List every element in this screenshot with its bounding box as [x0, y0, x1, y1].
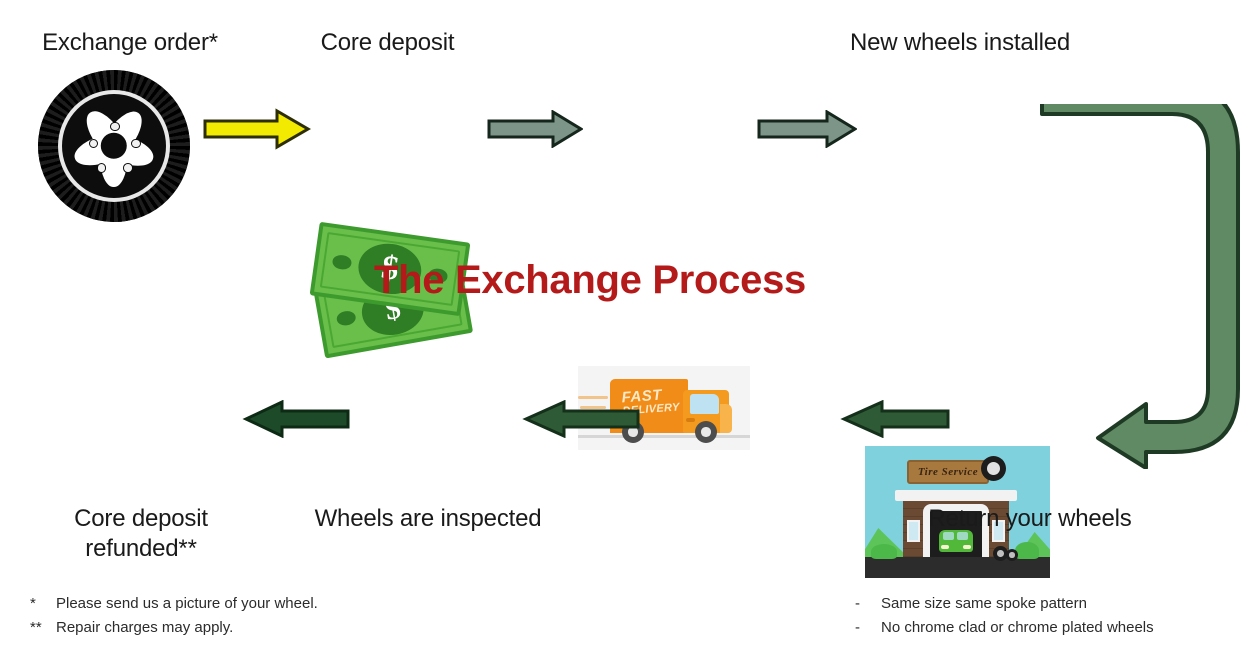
rim-spokes — [63, 95, 165, 197]
notes-right: - Same size same spoke pattern - No chro… — [855, 592, 1154, 640]
sign-tire-icon — [981, 456, 1006, 481]
van-front-wheel — [695, 421, 717, 443]
arrow-inspect-to-refund — [242, 400, 350, 438]
van-window — [690, 394, 719, 414]
note-marker: ** — [30, 616, 56, 640]
note-text: Repair charges may apply. — [56, 616, 233, 640]
page-title: The Exchange Process — [0, 258, 1180, 303]
note-marker: * — [30, 592, 56, 616]
step-label-core-deposit-refunded: Core deposit refunded** — [28, 504, 254, 564]
bush-left — [871, 544, 897, 559]
arrow-order-to-deposit — [203, 108, 311, 150]
step-label-return-your-wheels: Return your wheels — [885, 504, 1175, 534]
note-text: No chrome clad or chrome plated wheels — [881, 616, 1154, 640]
arrow-return-to-shipping — [840, 400, 950, 438]
wheel-dark-rim-icon — [38, 70, 190, 222]
notes-left: * Please send us a picture of your wheel… — [30, 592, 318, 640]
note-right-1: - Same size same spoke pattern — [855, 592, 1154, 616]
note-right-2: - No chrome clad or chrome plated wheels — [855, 616, 1154, 640]
shop-cornice — [895, 490, 1017, 501]
arrow-shipping-to-inspect — [522, 400, 640, 438]
shop-sign: Tire Service — [907, 460, 989, 484]
bush-right — [1015, 542, 1039, 559]
note-marker: - — [855, 616, 881, 640]
step-label-new-wheels-installed: New wheels installed — [790, 28, 1130, 58]
note-text: Same size same spoke pattern — [881, 592, 1087, 616]
step-label-wheels-are-inspected: Wheels are inspected — [283, 504, 573, 534]
arrow-deposit-to-shipping — [487, 110, 583, 148]
shop-sign-text: Tire Service — [918, 466, 978, 478]
van-nose — [720, 404, 732, 433]
step-label-exchange-order: Exchange order* — [0, 28, 260, 58]
exchange-process-diagram: Exchange order* Core deposit New wheels … — [0, 0, 1250, 666]
arrow-shipping-to-install — [757, 110, 857, 148]
shop-ground — [865, 557, 1050, 578]
note-left-2: ** Repair charges may apply. — [30, 616, 318, 640]
step-label-core-deposit: Core deposit — [275, 28, 500, 58]
note-text: Please send us a picture of your wheel. — [56, 592, 318, 616]
note-marker: - — [855, 592, 881, 616]
note-left-1: * Please send us a picture of your wheel… — [30, 592, 318, 616]
stacked-tire — [1006, 549, 1018, 561]
